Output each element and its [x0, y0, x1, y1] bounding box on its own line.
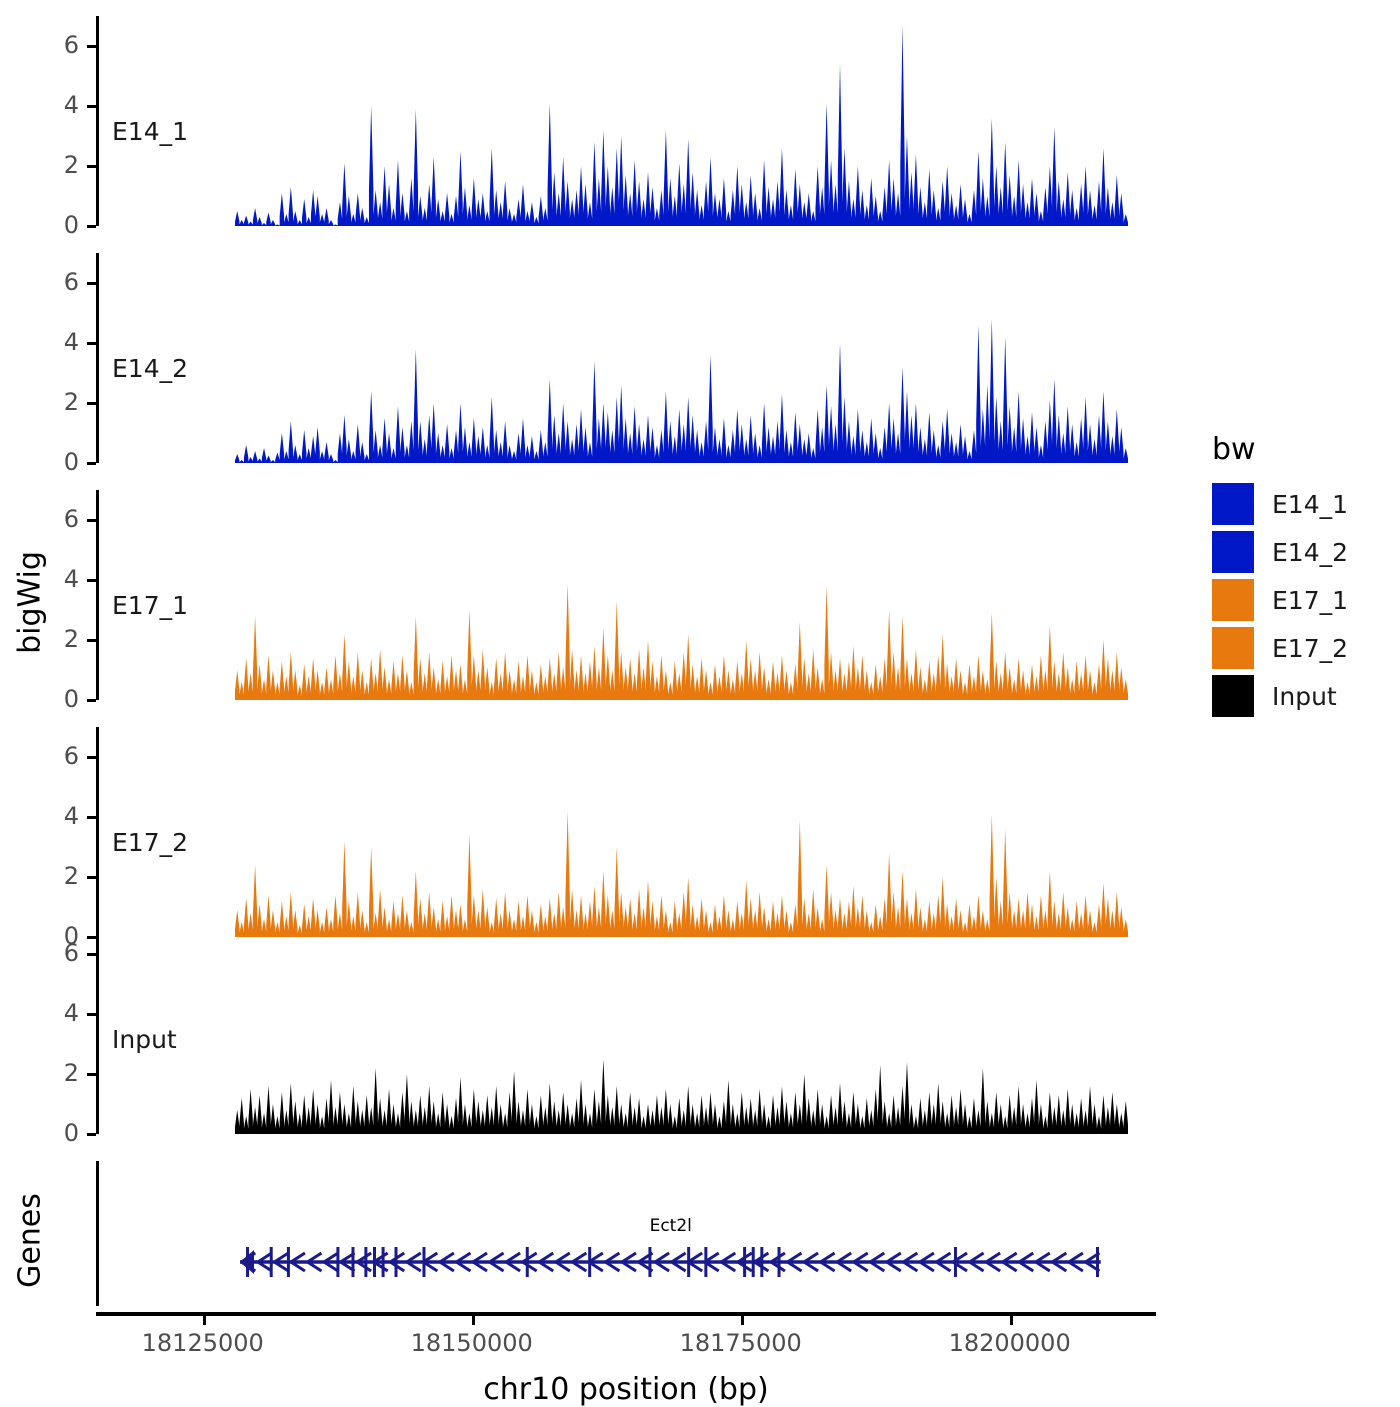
legend-item-e17_2[interactable]: E17_2 [1212, 627, 1348, 669]
track-label-e14_1: E14_1 [112, 117, 188, 146]
gene-panel-axis-line [96, 1161, 99, 1306]
track-label-input: Input [112, 1025, 177, 1054]
strip-label-genes: Genes [13, 1181, 48, 1301]
x-tick-18175000 [741, 1316, 744, 1325]
track-label-e17_2: E17_2 [112, 828, 188, 857]
y-tick-label-e14_1-6: 6 [19, 31, 79, 59]
track-label-e17_1: E17_1 [112, 591, 188, 620]
y-tick-e17_1-4 [87, 579, 96, 582]
coverage-track-e17_1 [235, 490, 1128, 700]
x-tick-18150000 [472, 1316, 475, 1325]
legend-key-e14_1 [1212, 483, 1254, 525]
y-axis-line-e17_2 [96, 727, 99, 937]
y-tick-input-0 [87, 1133, 96, 1136]
y-tick-label-e17_2-2: 2 [19, 862, 79, 890]
coverage-track-e14_2 [235, 253, 1128, 463]
legend-title: bw [1212, 432, 1348, 467]
y-tick-e14_1-6 [87, 45, 96, 48]
y-tick-label-input-0: 0 [19, 1119, 79, 1147]
y-tick-e17_1-0 [87, 699, 96, 702]
y-tick-e14_1-0 [87, 225, 96, 228]
legend-key-e17_1 [1212, 579, 1254, 621]
gene-model-ect2l[interactable] [240, 1242, 1103, 1282]
legend-label-e17_1: E17_1 [1272, 586, 1348, 615]
y-axis-line-e17_1 [96, 490, 99, 700]
coverage-track-e14_1 [235, 16, 1128, 226]
legend-label-e14_1: E14_1 [1272, 490, 1348, 519]
y-tick-label-input-2: 2 [19, 1059, 79, 1087]
legend-key-input [1212, 675, 1254, 717]
legend-item-input[interactable]: Input [1212, 675, 1348, 717]
y-tick-input-2 [87, 1073, 96, 1076]
y-tick-e14_2-0 [87, 462, 96, 465]
legend-item-e14_1[interactable]: E14_1 [1212, 483, 1348, 525]
y-axis-line-e14_2 [96, 253, 99, 463]
x-tick-label-18150000: 18150000 [372, 1329, 572, 1357]
track-label-e14_2: E14_2 [112, 354, 188, 383]
y-tick-label-input-6: 6 [19, 939, 79, 967]
y-tick-e14_1-4 [87, 105, 96, 108]
y-tick-e14_2-2 [87, 402, 96, 405]
legend-key-e17_2 [1212, 627, 1254, 669]
y-tick-label-e17_2-6: 6 [19, 742, 79, 770]
y-tick-label-e14_2-4: 4 [19, 328, 79, 356]
y-axis-line-input [96, 924, 99, 1134]
y-tick-input-6 [87, 953, 96, 956]
y-tick-e14_2-4 [87, 342, 96, 345]
y-tick-input-4 [87, 1013, 96, 1016]
y-tick-e17_2-6 [87, 756, 96, 759]
y-tick-e17_2-0 [87, 936, 96, 939]
y-tick-e14_2-6 [87, 282, 96, 285]
x-tick-label-18200000: 18200000 [910, 1329, 1110, 1357]
legend: bw E14_1E14_2E17_1E17_2Input [1212, 432, 1348, 723]
x-axis-title: chr10 position (bp) [96, 1372, 1156, 1407]
x-tick-18125000 [203, 1316, 206, 1325]
y-tick-label-e14_2-2: 2 [19, 388, 79, 416]
y-tick-label-e14_2-6: 6 [19, 268, 79, 296]
y-tick-e17_2-2 [87, 876, 96, 879]
legend-key-e14_2 [1212, 531, 1254, 573]
y-tick-e17_2-4 [87, 816, 96, 819]
y-tick-label-e17_2-4: 4 [19, 802, 79, 830]
y-axis-line-e14_1 [96, 16, 99, 226]
y-tick-label-e17_1-4: 4 [19, 565, 79, 593]
y-tick-label-e14_1-2: 2 [19, 151, 79, 179]
y-tick-label-e17_1-6: 6 [19, 505, 79, 533]
legend-item-e14_2[interactable]: E14_2 [1212, 531, 1348, 573]
x-tick-18200000 [1010, 1316, 1013, 1325]
legend-label-e14_2: E14_2 [1272, 538, 1348, 567]
y-tick-e17_1-6 [87, 519, 96, 522]
y-tick-label-input-4: 4 [19, 999, 79, 1027]
gene-name-label: Ect2l [631, 1216, 711, 1236]
y-tick-label-e14_1-4: 4 [19, 91, 79, 119]
y-tick-label-e14_1-0: 0 [19, 211, 79, 239]
y-tick-e17_1-2 [87, 639, 96, 642]
legend-label-e17_2: E17_2 [1272, 634, 1348, 663]
y-tick-label-e17_1-2: 2 [19, 625, 79, 653]
coverage-track-e17_2 [235, 727, 1128, 937]
legend-label-input: Input [1272, 682, 1337, 711]
y-tick-label-e17_1-0: 0 [19, 685, 79, 713]
x-tick-label-18125000: 18125000 [103, 1329, 303, 1357]
legend-item-e17_1[interactable]: E17_1 [1212, 579, 1348, 621]
x-tick-label-18175000: 18175000 [641, 1329, 841, 1357]
y-tick-e14_1-2 [87, 165, 96, 168]
y-tick-label-e14_2-0: 0 [19, 448, 79, 476]
coverage-track-input [235, 924, 1128, 1134]
x-axis-line [96, 1312, 1156, 1316]
